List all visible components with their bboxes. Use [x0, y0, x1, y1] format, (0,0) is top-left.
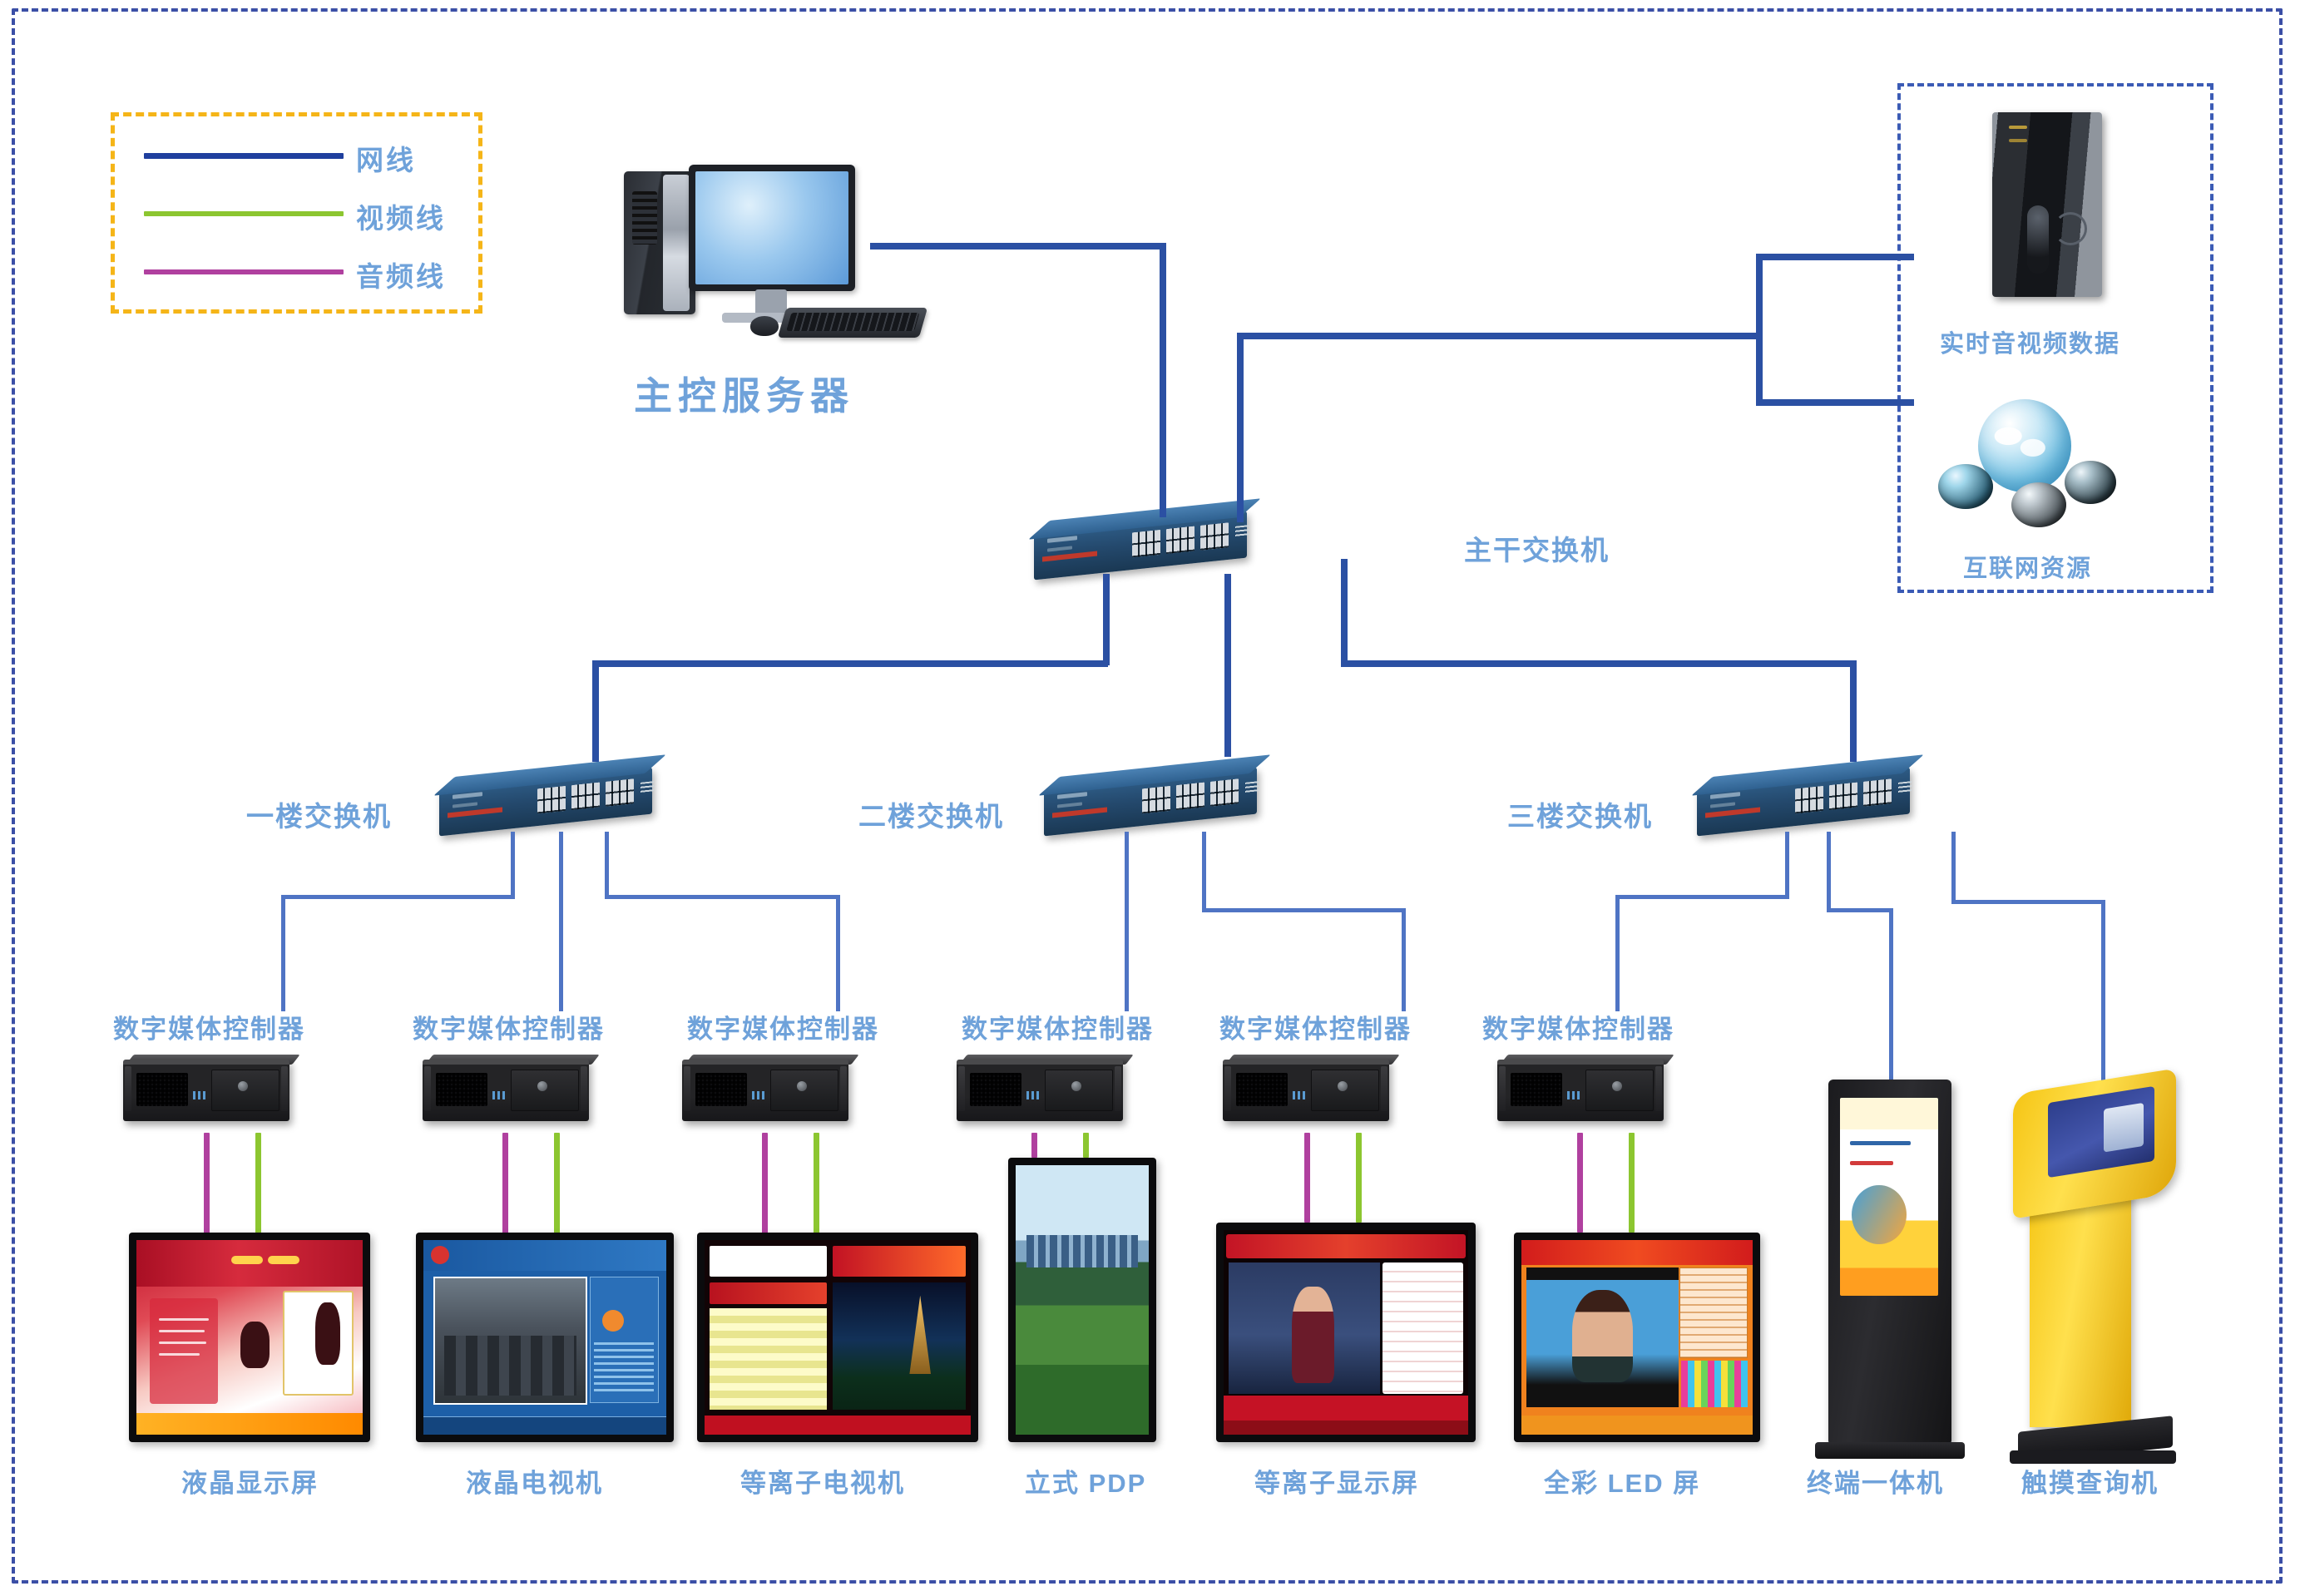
label-floor1-switch: 一楼交换机 [246, 794, 392, 834]
audio-cable-4 [1031, 1133, 1037, 1158]
legend-item-network: 网线 [115, 138, 478, 171]
audio-cable-5 [1304, 1133, 1310, 1223]
label-terminal-3: 等离子电视机 [740, 1462, 905, 1500]
legend-label-network: 网线 [356, 138, 416, 178]
plasma-tv-icon [697, 1233, 978, 1442]
cable-backbone-down-mid [1224, 574, 1231, 757]
audio-cable-6 [1577, 1133, 1583, 1233]
network-topology-diagram: 网线 视频线 音频线 实时音视频数据 互联网资源 主控服务器 [0, 0, 2300, 1596]
label-controller-5: 数字媒体控制器 [1219, 1008, 1412, 1045]
cable-backbone-ext-h [1237, 333, 1763, 339]
cable-ext-to-internet [1756, 399, 1914, 406]
label-floor2-switch: 二楼交换机 [858, 794, 1004, 834]
video-cable-2 [554, 1133, 560, 1234]
cable-f1-c-h [605, 895, 840, 899]
legend-box: 网线 视频线 音频线 [111, 112, 482, 314]
cable-bus-left [592, 660, 1108, 667]
standing-pdp-icon [1008, 1158, 1156, 1442]
cable-f3-c-h [1951, 900, 2105, 904]
cable-bus-to-floor1 [592, 660, 599, 762]
label-terminal-2: 液晶电视机 [466, 1462, 603, 1500]
cable-ext-drop [1756, 333, 1763, 406]
label-terminal-8: 触摸查询机 [2021, 1462, 2159, 1500]
audio-cable-2 [502, 1133, 508, 1234]
label-controller-6: 数字媒体控制器 [1482, 1008, 1674, 1045]
label-terminal-1: 液晶显示屏 [181, 1462, 319, 1500]
plasma-display-icon [1216, 1223, 1476, 1442]
label-controller-3: 数字媒体控制器 [687, 1008, 879, 1045]
cable-f2-b-h [1202, 908, 1406, 912]
label-realtime-av: 实时音视频数据 [1940, 324, 2120, 359]
cable-f1-a-h [281, 895, 515, 899]
cable-ext-riser [1756, 254, 1763, 339]
cable-f1-b [559, 832, 563, 1011]
audio-cable-1 [204, 1133, 210, 1234]
video-cable-4 [1083, 1133, 1089, 1158]
label-controller-1: 数字媒体控制器 [113, 1008, 305, 1045]
label-controller-2: 数字媒体控制器 [413, 1008, 605, 1045]
legend-item-audio: 音频线 [115, 254, 478, 288]
cable-f1-c-v [605, 832, 609, 898]
led-screen-icon [1514, 1233, 1760, 1442]
audio-cable-swatch [144, 269, 344, 274]
cable-f1-a-drop [281, 895, 285, 1011]
audio-cable-3 [762, 1133, 768, 1234]
lcd-panel-icon [129, 1233, 370, 1442]
cable-f3-b-h [1827, 908, 1893, 912]
video-cable-1 [255, 1133, 261, 1234]
cable-f3-a-drop [1615, 895, 1620, 1011]
cable-backbone-down-left [1103, 574, 1110, 665]
label-floor3-switch: 三楼交换机 [1507, 794, 1653, 834]
network-cable-swatch [144, 153, 344, 159]
cable-f2-a [1125, 832, 1129, 1011]
cable-server-to-backbone-v [1160, 243, 1166, 517]
cable-f2-b-v [1202, 832, 1206, 912]
cable-f1-a-v [511, 832, 515, 898]
cable-f3-b-v [1827, 832, 1831, 912]
cable-backbone-ext-v [1237, 333, 1244, 522]
cable-f2-b-drop [1402, 908, 1406, 1011]
label-terminal-5: 等离子显示屏 [1254, 1462, 1419, 1500]
lcd-tv-icon [416, 1233, 674, 1442]
video-cable-5 [1356, 1133, 1362, 1223]
cable-backbone-down-right [1341, 559, 1348, 665]
label-main-server: 主控服务器 [634, 366, 854, 421]
label-internet: 互联网资源 [1963, 549, 2092, 584]
video-cable-3 [814, 1133, 819, 1234]
cable-server-to-backbone-h [870, 243, 1166, 250]
cable-f3-a-h [1615, 895, 1789, 899]
cable-bus-to-floor3 [1850, 660, 1857, 762]
cable-f3-c-v [1951, 832, 1956, 903]
video-cable-swatch [144, 211, 344, 216]
legend-label-video: 视频线 [356, 196, 446, 236]
legend-item-video: 视频线 [115, 196, 478, 230]
video-cable-6 [1629, 1133, 1635, 1233]
cable-bus-right [1341, 660, 1857, 667]
cable-f3-a-v [1785, 832, 1789, 898]
cable-ext-to-realtime [1756, 254, 1914, 260]
label-backbone-switch: 主干交换机 [1464, 528, 1610, 568]
legend-label-audio: 音频线 [356, 254, 446, 294]
label-terminal-6: 全彩 LED 屏 [1544, 1462, 1700, 1500]
label-controller-4: 数字媒体控制器 [962, 1008, 1154, 1045]
cable-f1-c-drop [836, 895, 840, 1011]
label-terminal-7: 终端一体机 [1807, 1462, 1944, 1500]
label-terminal-4: 立式 PDP [1025, 1462, 1146, 1500]
